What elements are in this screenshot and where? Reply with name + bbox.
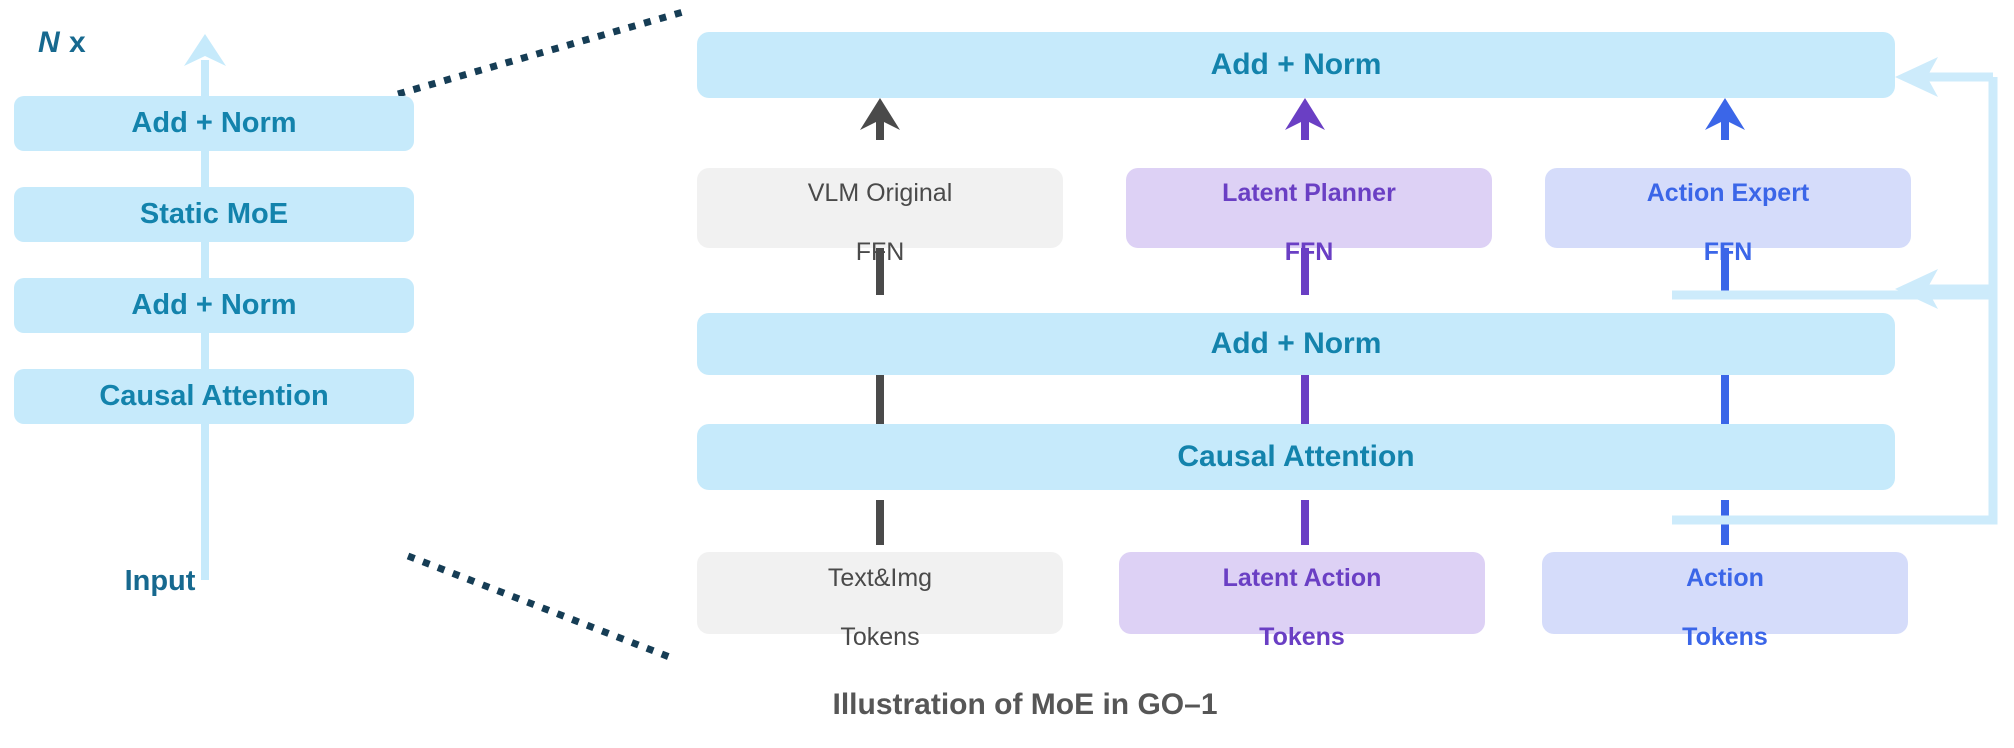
expert-action-line1: Action Expert [1647, 179, 1810, 207]
input-label: Input [85, 565, 235, 598]
token-action-line1: Action [1686, 564, 1764, 592]
token-text-img-line2: Tokens [840, 623, 919, 651]
right-bar-causal-attention[interactable]: Causal Attention [697, 424, 1895, 490]
token-action-line2: Tokens [1682, 623, 1768, 651]
expert-vlm-line2: FFN [856, 238, 905, 266]
token-latent-action-line2: Tokens [1259, 623, 1345, 651]
expert-action-line2: FFN [1704, 238, 1753, 266]
left-block-causal-attention[interactable]: Causal Attention [14, 369, 414, 424]
token-latent-action-line1: Latent Action [1223, 564, 1382, 592]
figure-caption: Illustration of MoE in GO–1 [700, 688, 1350, 722]
token-text-img-line1: Text&Img [828, 564, 932, 592]
repeat-count-x: x [60, 26, 86, 59]
expert-box-action-expert-ffn[interactable]: Action Expert FFN [1545, 168, 1911, 248]
right-bar-add-norm-top[interactable]: Add + Norm [697, 32, 1895, 98]
expert-latent-planner-line2: FFN [1285, 238, 1334, 266]
right-bar-add-norm-mid[interactable]: Add + Norm [697, 313, 1895, 375]
repeat-count-n: N [38, 26, 60, 59]
token-box-latent-action-tokens[interactable]: Latent Action Tokens [1119, 552, 1485, 634]
left-block-add-norm-bottom[interactable]: Add + Norm [14, 278, 414, 333]
dotted-connector-top [398, 10, 690, 94]
diagram-canvas: N x Add + Norm Static MoE Add + Norm Cau… [0, 0, 2014, 748]
repeat-count-label: N x [38, 26, 86, 60]
expert-latent-planner-line1: Latent Planner [1222, 179, 1396, 207]
expert-box-vlm-original-ffn[interactable]: VLM Original FFN [697, 168, 1063, 248]
left-block-add-norm-top[interactable]: Add + Norm [14, 96, 414, 151]
expert-box-latent-planner-ffn[interactable]: Latent Planner FFN [1126, 168, 1492, 248]
token-box-text-img-tokens[interactable]: Text&Img Tokens [697, 552, 1063, 634]
dotted-connector-bottom [408, 556, 672, 658]
left-block-static-moe[interactable]: Static MoE [14, 187, 414, 242]
expert-vlm-line1: VLM Original [808, 179, 953, 207]
token-box-action-tokens[interactable]: Action Tokens [1542, 552, 1908, 634]
